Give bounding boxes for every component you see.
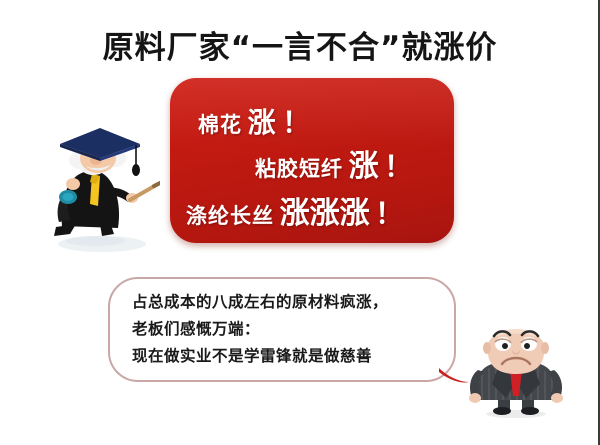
banner-line-cotton: 棉花 涨 ！	[198, 101, 311, 141]
banner-line-cotton-punct: ！	[282, 106, 311, 139]
banner-line-polyester-label: 涤纶长丝	[186, 204, 274, 228]
speech-bubble-text: 占总成本的八成左右的原材料疯涨， 老板们感慨万端： 现在做实业不是学雷锋就是做慈…	[132, 289, 452, 370]
speech-bubble: 占总成本的八成左右的原材料疯涨， 老板们感慨万端： 现在做实业不是学雷锋就是做慈…	[108, 277, 456, 382]
banner-line-polyester-punct: ！	[375, 197, 404, 230]
banner-line-viscose-emphasis: 涨	[349, 149, 379, 184]
businessman-illustration	[462, 312, 570, 420]
banner-line-polyester: 涤纶长丝 涨涨涨 ！	[186, 188, 404, 232]
poster-root: 原料厂家“一言不合”就涨价	[0, 0, 600, 445]
businessman-character	[462, 312, 570, 420]
professor-illustration	[40, 124, 160, 254]
speech-bubble-line-2: 老板们感慨万端：	[132, 316, 452, 343]
professor-character	[40, 124, 160, 254]
banner-line-viscose-label: 粘胶短纤	[255, 157, 343, 181]
price-increase-banner: 棉花 涨 ！ 粘胶短纤 涨 ！ 涤纶长丝 涨涨涨 ！	[170, 78, 454, 243]
banner-line-cotton-label: 棉花	[198, 113, 242, 137]
banner-line-viscose: 粘胶短纤 涨 ！	[255, 141, 413, 185]
speech-bubble-line-1: 占总成本的八成左右的原材料疯涨，	[132, 289, 452, 316]
banner-line-polyester-emphasis: 涨涨涨	[280, 196, 370, 231]
speech-bubble-line-3: 现在做实业不是学雷锋就是做慈善	[132, 343, 452, 370]
page-title: 原料厂家“一言不合”就涨价	[0, 22, 600, 67]
banner-line-viscose-punct: ！	[384, 150, 413, 183]
banner-line-cotton-emphasis: 涨	[248, 106, 277, 139]
